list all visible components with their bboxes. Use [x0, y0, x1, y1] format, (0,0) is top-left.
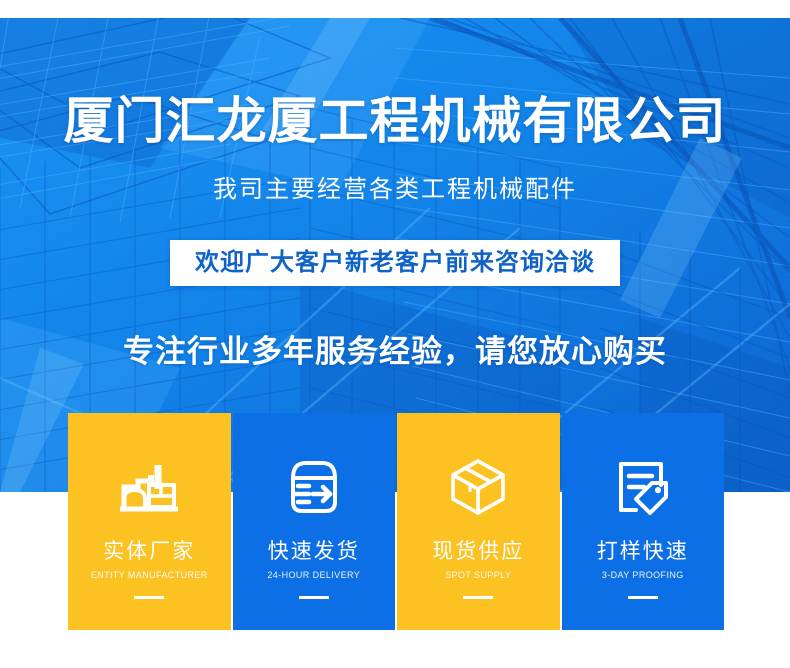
feature-title: 快速发货	[268, 541, 360, 562]
feature-card-row: 实体厂家 ENTITY MANUFACTURER 快速发货 24-HOUR DE…	[68, 413, 724, 630]
company-tagline: 我司主要经营各类工程机械配件	[0, 178, 790, 202]
welcome-banner-text: 欢迎广大客户新老客户前来咨询洽谈	[195, 251, 595, 275]
feature-card-entity-manufacturer[interactable]: 实体厂家 ENTITY MANUFACTURER	[68, 413, 231, 630]
card-divider	[134, 596, 164, 599]
card-divider	[463, 596, 493, 599]
factory-icon	[116, 457, 182, 517]
feature-subtitle: 24-HOUR DELIVERY	[267, 571, 360, 580]
feature-subtitle: SPOT SUPPLY	[445, 571, 511, 580]
card-divider	[628, 596, 658, 599]
package-box-icon	[445, 457, 511, 517]
page-title: 厦门汇龙厦工程机械有限公司	[0, 96, 790, 146]
feature-title: 实体厂家	[103, 541, 195, 562]
feature-card-fast-delivery[interactable]: 快速发货 24-HOUR DELIVERY	[233, 413, 396, 630]
feature-title: 打样快速	[597, 541, 689, 562]
welcome-banner: 欢迎广大客户新老客户前来咨询洽谈	[170, 240, 620, 286]
feature-card-spot-supply[interactable]: 现货供应 SPOT SUPPLY	[397, 413, 560, 630]
feature-subtitle: ENTITY MANUFACTURER	[91, 571, 208, 580]
promotional-banner: 厦门汇龙厦工程机械有限公司 我司主要经营各类工程机械配件 欢迎广大客户新老客户前…	[0, 0, 790, 668]
feature-title: 现货供应	[432, 541, 524, 562]
document-tag-icon	[610, 457, 676, 517]
experience-headline: 专注行业多年服务经验，请您放心购买	[0, 336, 790, 367]
feature-card-fast-proofing[interactable]: 打样快速 3-DAY PROOFING	[562, 413, 725, 630]
card-divider	[299, 596, 329, 599]
feature-subtitle: 3-DAY PROOFING	[602, 571, 684, 580]
delivery-box-arrow-icon	[281, 457, 347, 517]
